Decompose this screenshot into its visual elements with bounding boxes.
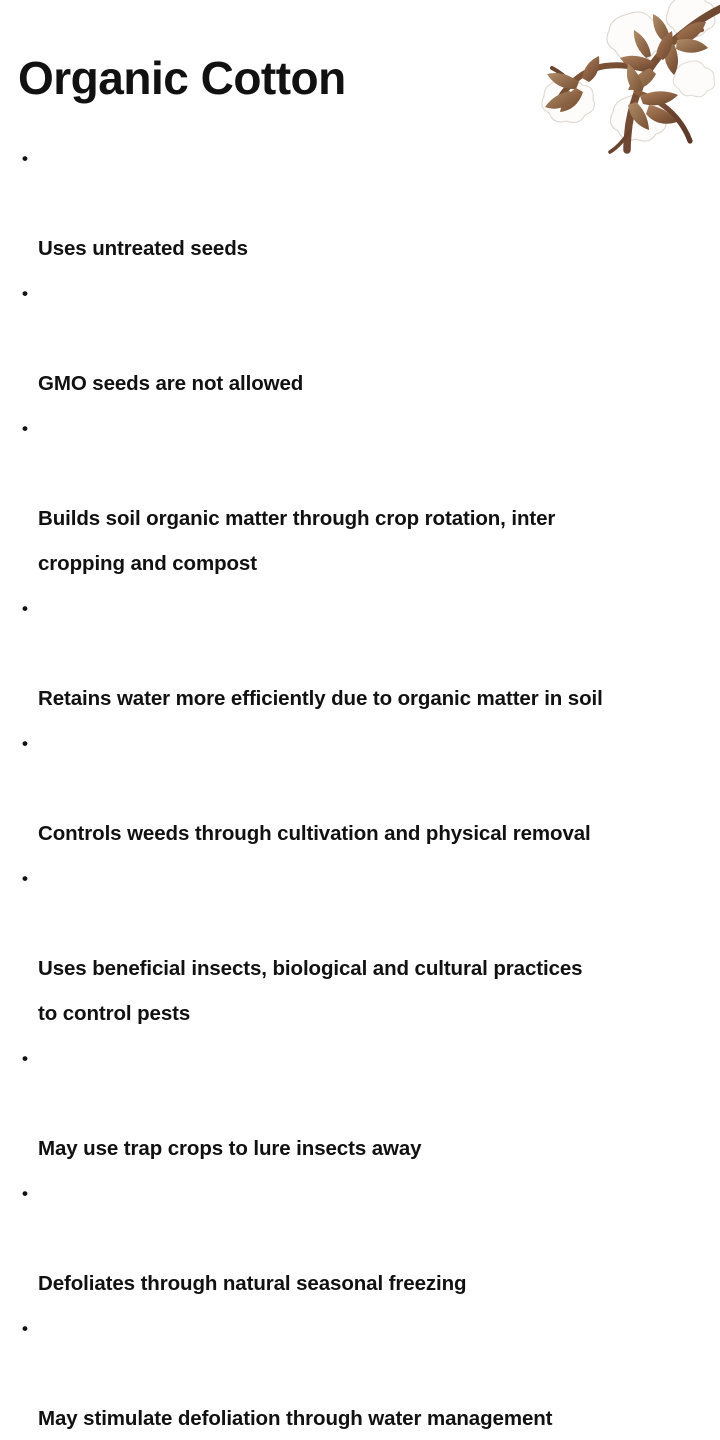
page-title: Organic Cotton (18, 53, 346, 104)
list-item-text: Controls weeds through cultivation and p… (38, 822, 591, 845)
bullet-marker-icon: • (22, 406, 28, 451)
list-item: • Uses untreated seeds (0, 136, 720, 271)
bullet-marker-icon: • (22, 1036, 28, 1081)
bullet-marker-icon: • (22, 586, 28, 631)
slide-canvas: Organic Cotton • Uses untreated seeds • … (0, 0, 720, 720)
bullet-marker-icon: • (22, 136, 28, 181)
leaf-shapes (545, 14, 708, 130)
list-item-text: Defoliates through natural seasonal free… (38, 1272, 466, 1295)
list-item-text: Retains water more efficiently due to or… (38, 687, 603, 710)
bullet-marker-icon: • (22, 1306, 28, 1351)
list-item: • Builds soil organic matter through cro… (0, 406, 720, 586)
list-item-text: May stimulate defoliation through water … (38, 1407, 552, 1430)
bullet-marker-icon: • (22, 1171, 28, 1216)
list-item-text: GMO seeds are not allowed (38, 372, 303, 395)
list-item-text: Builds soil organic matter through crop … (38, 507, 555, 575)
list-item-text: May use trap crops to lure insects away (38, 1137, 421, 1160)
list-item: • Retains water more efficiently due to … (0, 586, 720, 721)
bullet-marker-icon: • (22, 271, 28, 316)
bullet-list: • Uses untreated seeds • GMO seeds are n… (0, 136, 720, 1440)
list-item: • Controls weeds through cultivation and… (0, 721, 720, 856)
list-item: • May use trap crops to lure insects awa… (0, 1036, 720, 1171)
bullet-marker-icon: • (22, 721, 28, 766)
list-item-text: Uses untreated seeds (38, 237, 248, 260)
bullet-marker-icon: • (22, 856, 28, 901)
cotton-branch-icon (536, 0, 720, 157)
list-item-text: Uses beneficial insects, biological and … (38, 957, 582, 1025)
list-item: • May stimulate defoliation through wate… (0, 1306, 720, 1440)
cotton-boll-shapes (542, 0, 715, 141)
list-item: • Uses beneficial insects, biological an… (0, 856, 720, 1036)
branch-stem-shapes (552, 6, 720, 152)
list-item: • Defoliates through natural seasonal fr… (0, 1171, 720, 1306)
list-item: • GMO seeds are not allowed (0, 271, 720, 406)
